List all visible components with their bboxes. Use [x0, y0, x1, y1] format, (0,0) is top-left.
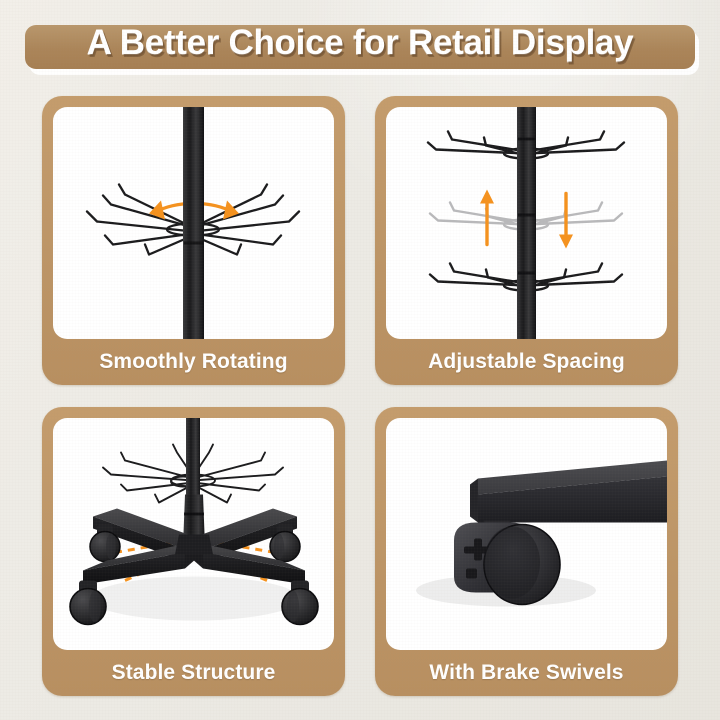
caster-front-right	[282, 581, 318, 625]
feature-card-with-brake-swivels[interactable]: With Brake Swivels	[375, 407, 678, 696]
illustration-cross-base-with-casters	[53, 418, 334, 650]
feature-card-grid: Smoothly Rotating	[42, 96, 678, 696]
card-label-smoothly-rotating: Smoothly Rotating	[53, 339, 334, 385]
page-title: A Better Choice for Retail Display	[25, 17, 695, 69]
illustration-rotating-hook-rack	[53, 107, 334, 339]
center-pole	[517, 107, 536, 339]
base-bar	[470, 461, 667, 523]
arrow-down-icon	[559, 194, 573, 249]
title-banner: A Better Choice for Retail Display	[25, 25, 695, 69]
caster-front-left	[70, 581, 106, 625]
feature-card-smoothly-rotating[interactable]: Smoothly Rotating	[42, 96, 345, 385]
card-label-stable-structure: Stable Structure	[53, 650, 334, 696]
caster-wheel	[484, 525, 560, 605]
illustration-caster-wheel-closeup	[386, 418, 667, 650]
feature-card-stable-structure[interactable]: Stable Structure	[42, 407, 345, 696]
card-label-with-brake-swivels: With Brake Swivels	[386, 650, 667, 696]
infographic-page: A Better Choice for Retail Display	[0, 0, 720, 720]
illustration-three-tier-hook-rack	[386, 107, 667, 339]
feature-card-adjustable-spacing[interactable]: Adjustable Spacing	[375, 96, 678, 385]
center-pole	[183, 107, 204, 339]
card-label-adjustable-spacing: Adjustable Spacing	[386, 339, 667, 385]
